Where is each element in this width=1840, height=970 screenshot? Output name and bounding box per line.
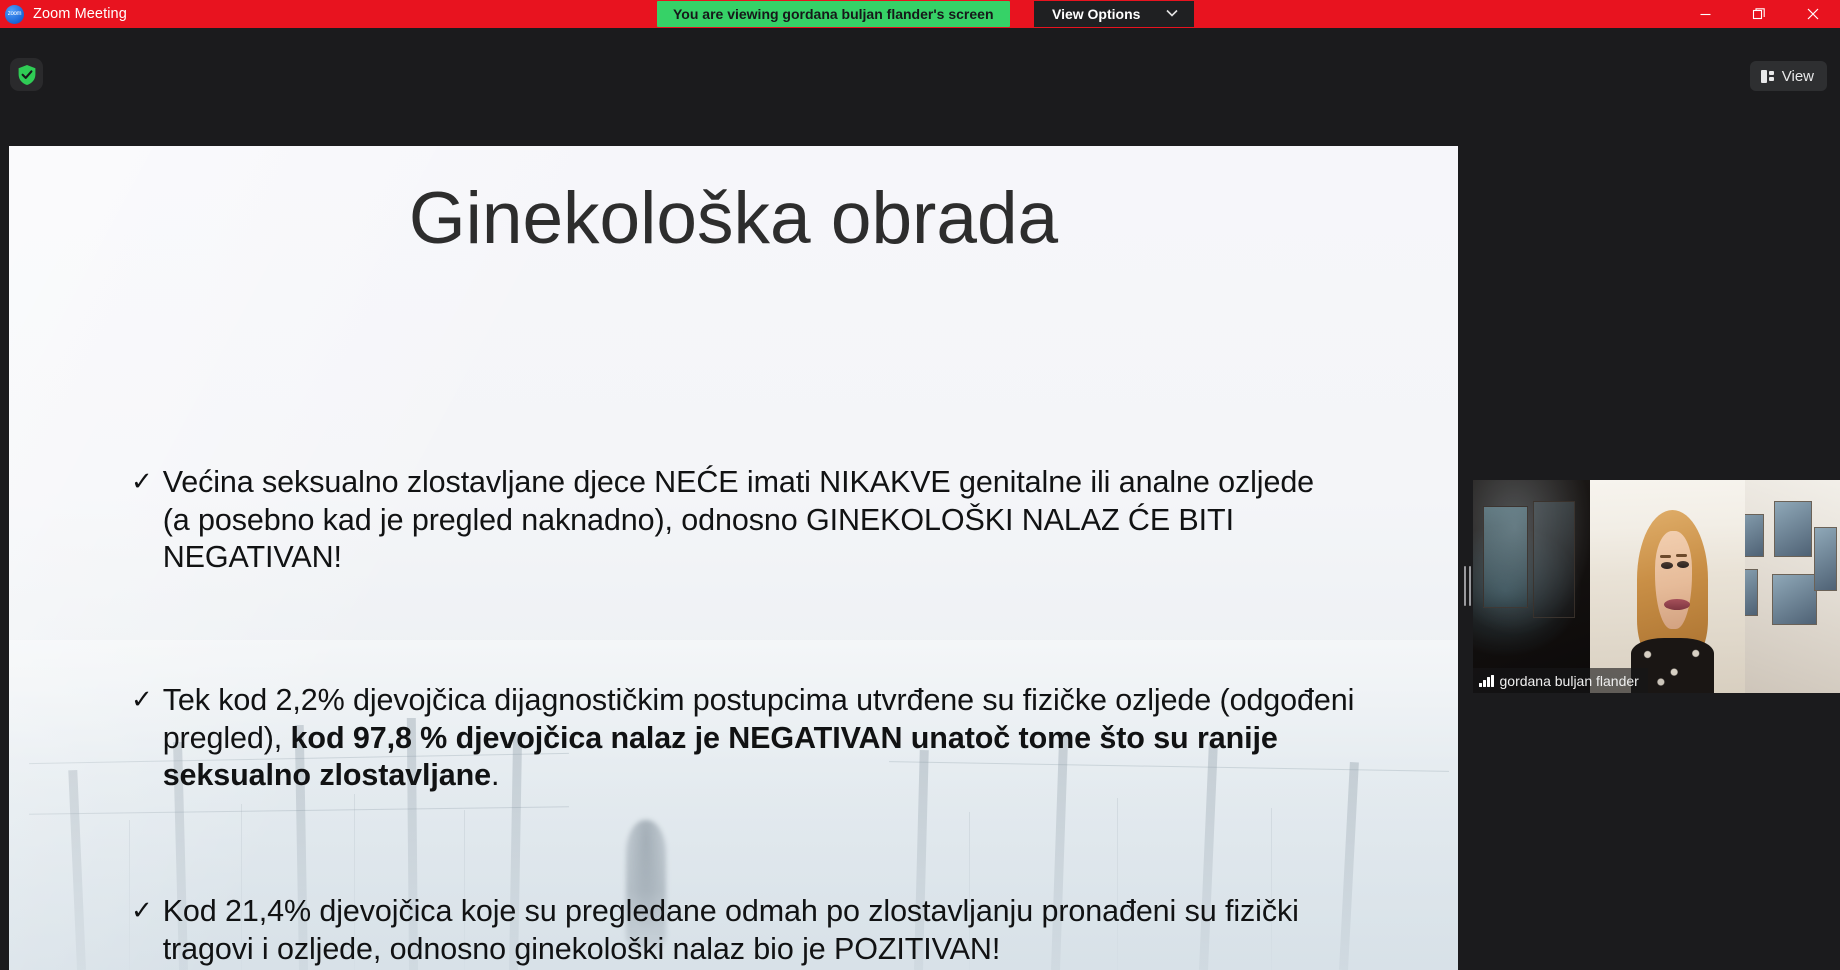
view-options-label: View Options [1052, 6, 1140, 22]
slide-title: Ginekološka obrada [9, 182, 1458, 255]
audio-level-bars-icon [1479, 675, 1494, 687]
shared-screen-slide[interactable]: Ginekološka obrada ✓ Većina seksualno zl… [9, 146, 1458, 970]
slide-bullet-3: ✓ Kod 21,4% djevojčica koje su pregledan… [131, 893, 1395, 968]
minimize-button[interactable] [1678, 0, 1732, 28]
bullet-3-text: Kod 21,4% djevojčica koje su pregledane … [163, 894, 1299, 966]
checkmark-icon: ✓ [131, 893, 153, 968]
view-options-button[interactable]: View Options [1034, 1, 1194, 27]
meeting-stage: View Ginekološka obrad [0, 28, 1840, 970]
bullet-1-text: Većina seksualno zlostavljane djece NEĆE… [163, 465, 1314, 574]
participant-video-feed [1473, 480, 1840, 693]
chevron-down-icon [1166, 8, 1178, 20]
participant-video-thumbnail[interactable]: gordana buljan flander [1473, 480, 1840, 693]
bullet-2-text-bold: kod 97,8 % djevojčica nalaz je NEGATIVAN… [163, 721, 1278, 793]
thumbnail-collapse-handle[interactable] [1461, 564, 1473, 608]
restore-button[interactable] [1732, 0, 1786, 28]
window-title-bar: zoom Zoom Meeting You are viewing gordan… [0, 0, 1840, 28]
zoom-logo-text: zoom [8, 11, 21, 17]
checkmark-icon: ✓ [131, 464, 153, 577]
screen-share-status-banner: You are viewing gordana buljan flander's… [657, 1, 1010, 27]
participant-name-bar: gordana buljan flander [1473, 668, 1648, 693]
slide-bullet-1: ✓ Većina seksualno zlostavljane djece NE… [131, 464, 1323, 577]
security-shield-icon[interactable] [10, 58, 43, 91]
window-controls [1678, 0, 1840, 28]
checkmark-icon: ✓ [131, 682, 153, 795]
zoom-logo-icon: zoom [5, 5, 24, 24]
bullet-2-text-tail: . [491, 758, 499, 792]
window-title: Zoom Meeting [33, 6, 127, 22]
slide-bullet-2: ✓ Tek kod 2,2% djevojčica dijagnostičkim… [131, 682, 1378, 795]
view-layout-icon [1761, 70, 1775, 83]
close-button[interactable] [1786, 0, 1840, 28]
screen-share-status-text: You are viewing gordana buljan flander's… [673, 6, 994, 22]
view-button-label: View [1782, 68, 1814, 85]
view-layout-button[interactable]: View [1750, 61, 1827, 91]
participant-name-label: gordana buljan flander [1500, 673, 1639, 689]
